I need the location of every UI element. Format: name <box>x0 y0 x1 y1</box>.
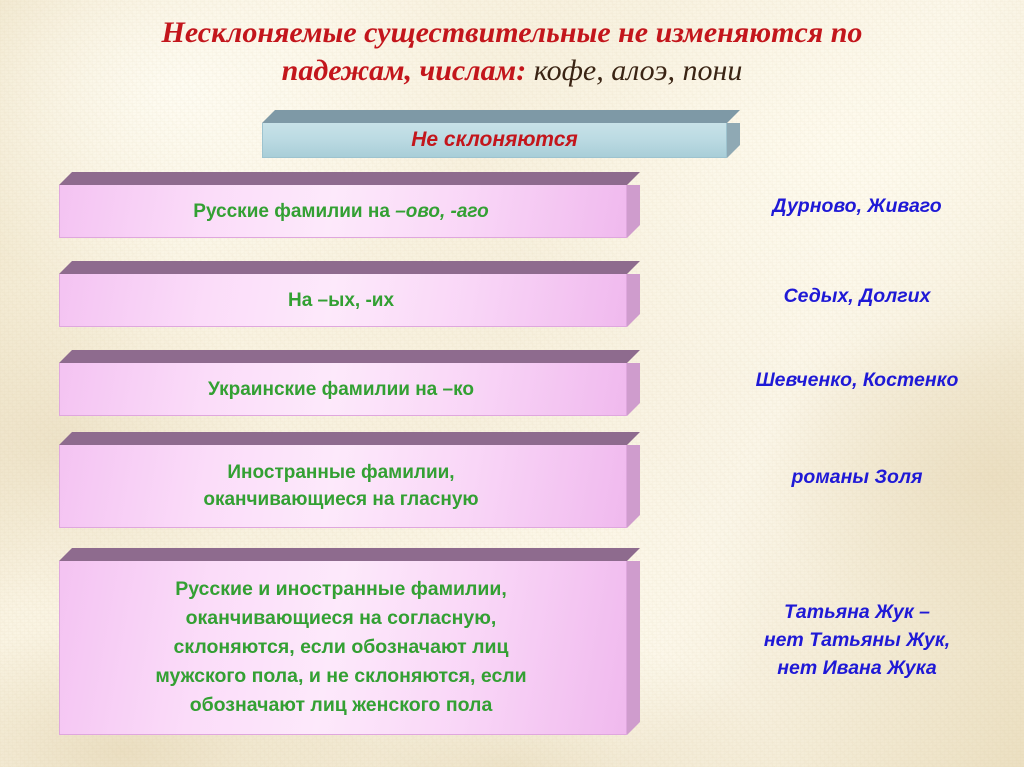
title-line-1: Несклоняемые существительные не изменяют… <box>162 16 863 49</box>
rule-block-3-side-face <box>627 363 640 416</box>
header-block-ne-sklonyayutsya: Не склоняются <box>262 110 740 158</box>
rule-block-5-label: Русские и иностранные фамилии, оканчиваю… <box>70 575 612 720</box>
rule-block-3: Украинские фамилии на –ко <box>59 350 640 416</box>
rule-block-5-line-3: склоняются, если обозначают лиц <box>174 636 509 658</box>
rule-block-1-top-face <box>59 172 640 185</box>
rule-block-1-front-face: Русские фамилии на –ово, -аго <box>59 185 627 238</box>
header-block-side-face <box>727 123 740 158</box>
header-block-front-face: Не склоняются <box>262 123 727 158</box>
example-text-5-line-3: нет Ивана Жука <box>777 657 936 679</box>
rule-block-5-line-2: оканчивающиеся на согласную, <box>186 607 497 629</box>
example-text-5-line-2: нет Татьяны Жук, <box>764 629 950 651</box>
rule-block-4-front-face: Иностранные фамилии, оканчивающиеся на г… <box>59 445 627 528</box>
rule-block-5-line-4: мужского пола, и не склоняются, если <box>155 665 526 687</box>
example-text-4: романы Золя <box>694 463 1020 491</box>
rule-block-5-top-face <box>59 548 640 561</box>
rule-block-2-label: На –ых, -их <box>70 287 612 314</box>
rule-block-5-line-5: обозначают лиц женского пола <box>190 694 493 716</box>
example-text-2: Седых, Долгих <box>694 282 1020 310</box>
rule-block-1-label: Русские фамилии на –ово, -аго <box>70 198 612 225</box>
example-text-3: Шевченко, Костенко <box>694 366 1020 394</box>
rule-block-4-line-2: оканчивающиеся на гласную <box>203 489 478 510</box>
rule-block-5-line-1: Русские и иностранные фамилии, <box>175 578 507 600</box>
rule-block-5-front-face: Русские и иностранные фамилии, оканчиваю… <box>59 561 627 735</box>
header-block-top-face <box>262 110 740 123</box>
header-block-label: Не склоняются <box>411 128 578 152</box>
rule-block-1-suffix: –ово, -аго <box>395 201 489 222</box>
rule-block-2-front-face: На –ых, -их <box>59 274 627 327</box>
title-line-2-red: падежам, числам: <box>282 54 527 87</box>
rule-block-5: Русские и иностранные фамилии, оканчиваю… <box>59 548 640 735</box>
rule-block-1-text: Русские фамилии на <box>193 201 395 222</box>
rule-block-4-side-face <box>627 445 640 528</box>
rule-block-2: На –ых, -их <box>59 261 640 327</box>
example-text-5-line-1: Татьяна Жук – <box>784 601 930 623</box>
example-text-5: Татьяна Жук – нет Татьяны Жук, нет Ивана… <box>694 598 1020 682</box>
rule-block-2-top-face <box>59 261 640 274</box>
rule-block-3-label: Украинские фамилии на –ко <box>70 376 612 403</box>
slide-canvas: Несклоняемые существительные не изменяют… <box>0 0 1024 767</box>
rule-block-2-side-face <box>627 274 640 327</box>
rule-block-1-side-face <box>627 185 640 238</box>
page-title: Несклоняемые существительные не изменяют… <box>72 14 952 90</box>
example-text-1: Дурново, Живаго <box>694 192 1020 220</box>
rule-block-4-top-face <box>59 432 640 445</box>
rule-block-4-label: Иностранные фамилии, оканчивающиеся на г… <box>70 459 612 513</box>
rule-block-3-front-face: Украинские фамилии на –ко <box>59 363 627 416</box>
rule-block-4: Иностранные фамилии, оканчивающиеся на г… <box>59 432 640 528</box>
rule-block-3-top-face <box>59 350 640 363</box>
title-line-2-examples: кофе, алоэ, пони <box>526 54 742 87</box>
rule-block-1: Русские фамилии на –ово, -аго <box>59 172 640 238</box>
rule-block-5-side-face <box>627 561 640 735</box>
rule-block-4-line-1: Иностранные фамилии, <box>227 462 454 483</box>
